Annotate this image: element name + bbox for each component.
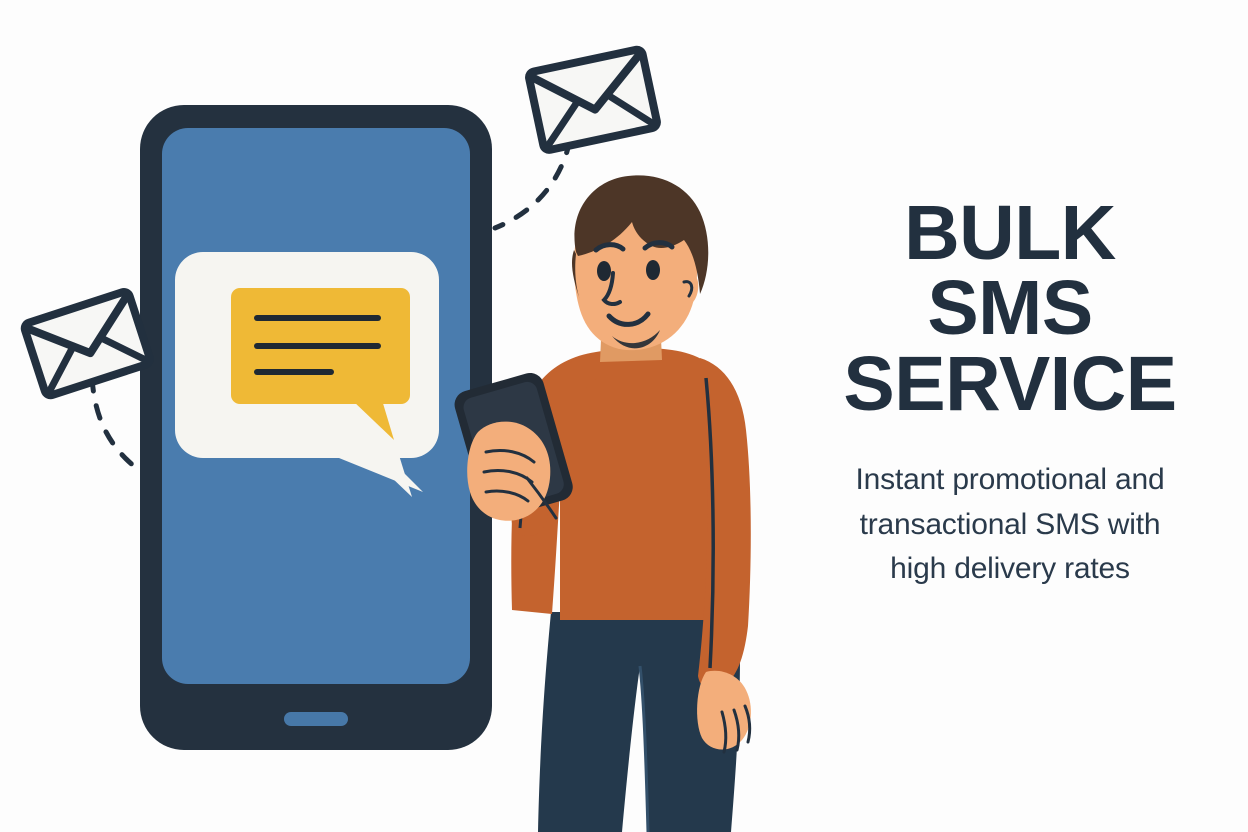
page-subtitle: Instant promotional and transactional SM… [800, 458, 1220, 591]
home-indicator-bar [284, 712, 348, 726]
text-block: BULK SMS SERVICE Instant promotional and… [800, 196, 1220, 592]
subtitle-line-2: transactional SMS with [800, 503, 1220, 547]
person-ear [678, 273, 698, 306]
person-right-hand [697, 671, 751, 752]
person-eye-left [597, 261, 611, 281]
person-figure [451, 175, 751, 832]
subtitle-line-3: high delivery rates [800, 547, 1220, 591]
subtitle-line-1: Instant promotional and [800, 458, 1220, 502]
large-phone [140, 105, 492, 750]
envelope-top-icon [528, 49, 658, 151]
person-left-hand [467, 422, 550, 521]
person-eye-right [646, 260, 660, 280]
page-title: BULK SMS SERVICE [800, 196, 1220, 422]
illustration-canvas: BULK SMS SERVICE Instant promotional and… [0, 0, 1248, 832]
dashed-trail-top [495, 140, 570, 228]
envelope-left-icon [23, 291, 151, 397]
headline-line-2: SMS [800, 271, 1220, 346]
headline-line-1: BULK [800, 196, 1220, 271]
headline-line-3: SERVICE [800, 347, 1220, 422]
